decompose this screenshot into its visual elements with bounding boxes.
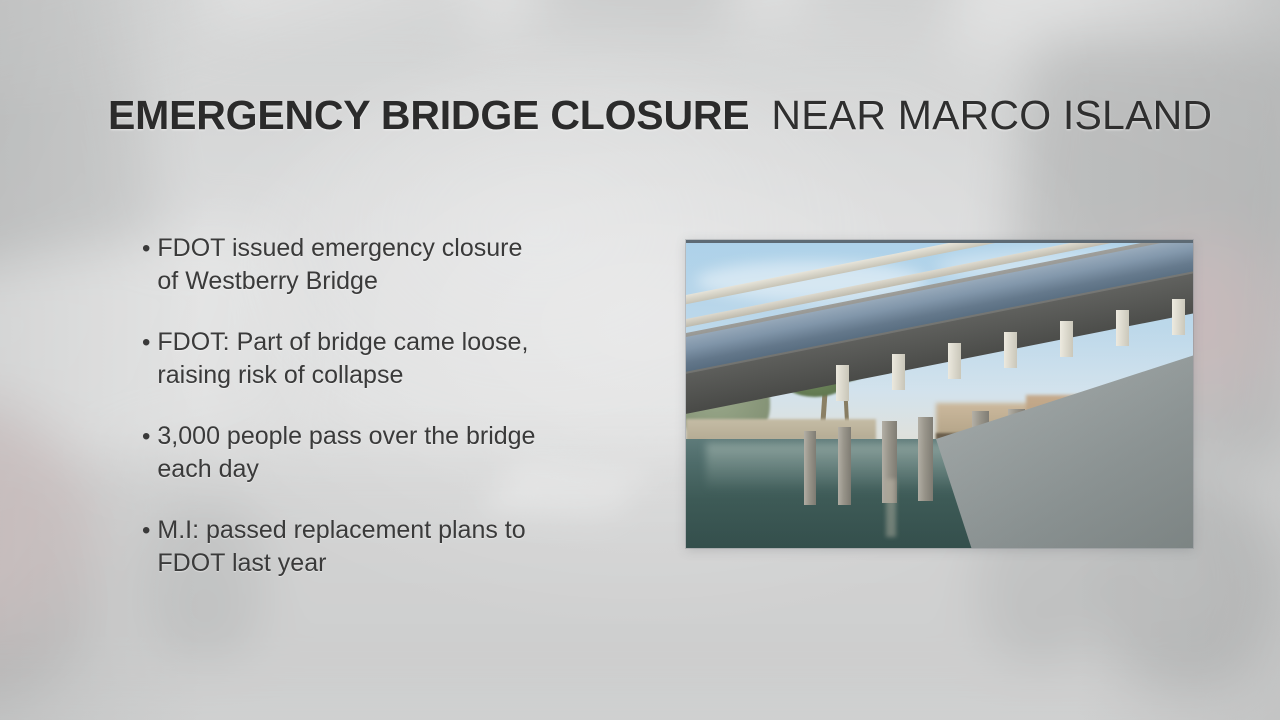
- photo-tone-overlay: [686, 243, 1193, 548]
- bullet-item: • M.I: passed replacement plans to FDOT …: [142, 514, 542, 580]
- bridge-photo: [686, 240, 1193, 548]
- bullet-marker-icon: •: [142, 326, 150, 359]
- headline-primary: EMERGENCY BRIDGE CLOSURE: [108, 92, 749, 139]
- bullet-text: 3,000 people pass over the bridge each d…: [157, 420, 542, 486]
- bullet-item: • FDOT issued emergency closure of Westb…: [142, 232, 542, 298]
- bullet-list: • FDOT issued emergency closure of Westb…: [142, 232, 542, 580]
- bullet-item: • FDOT: Part of bridge came loose, raisi…: [142, 326, 542, 392]
- broadcast-graphic: EMERGENCY BRIDGE CLOSURE NEAR MARCO ISLA…: [0, 0, 1280, 720]
- headline-secondary: NEAR MARCO ISLAND: [771, 92, 1212, 139]
- bullet-marker-icon: •: [142, 420, 150, 453]
- bullet-item: • 3,000 people pass over the bridge each…: [142, 420, 542, 486]
- bullet-marker-icon: •: [142, 514, 150, 547]
- headline: EMERGENCY BRIDGE CLOSURE NEAR MARCO ISLA…: [108, 92, 1212, 139]
- bullet-text: FDOT issued emergency closure of Westber…: [157, 232, 542, 298]
- bullet-text: M.I: passed replacement plans to FDOT la…: [157, 514, 542, 580]
- bullet-marker-icon: •: [142, 232, 150, 265]
- bullet-text: FDOT: Part of bridge came loose, raising…: [157, 326, 542, 392]
